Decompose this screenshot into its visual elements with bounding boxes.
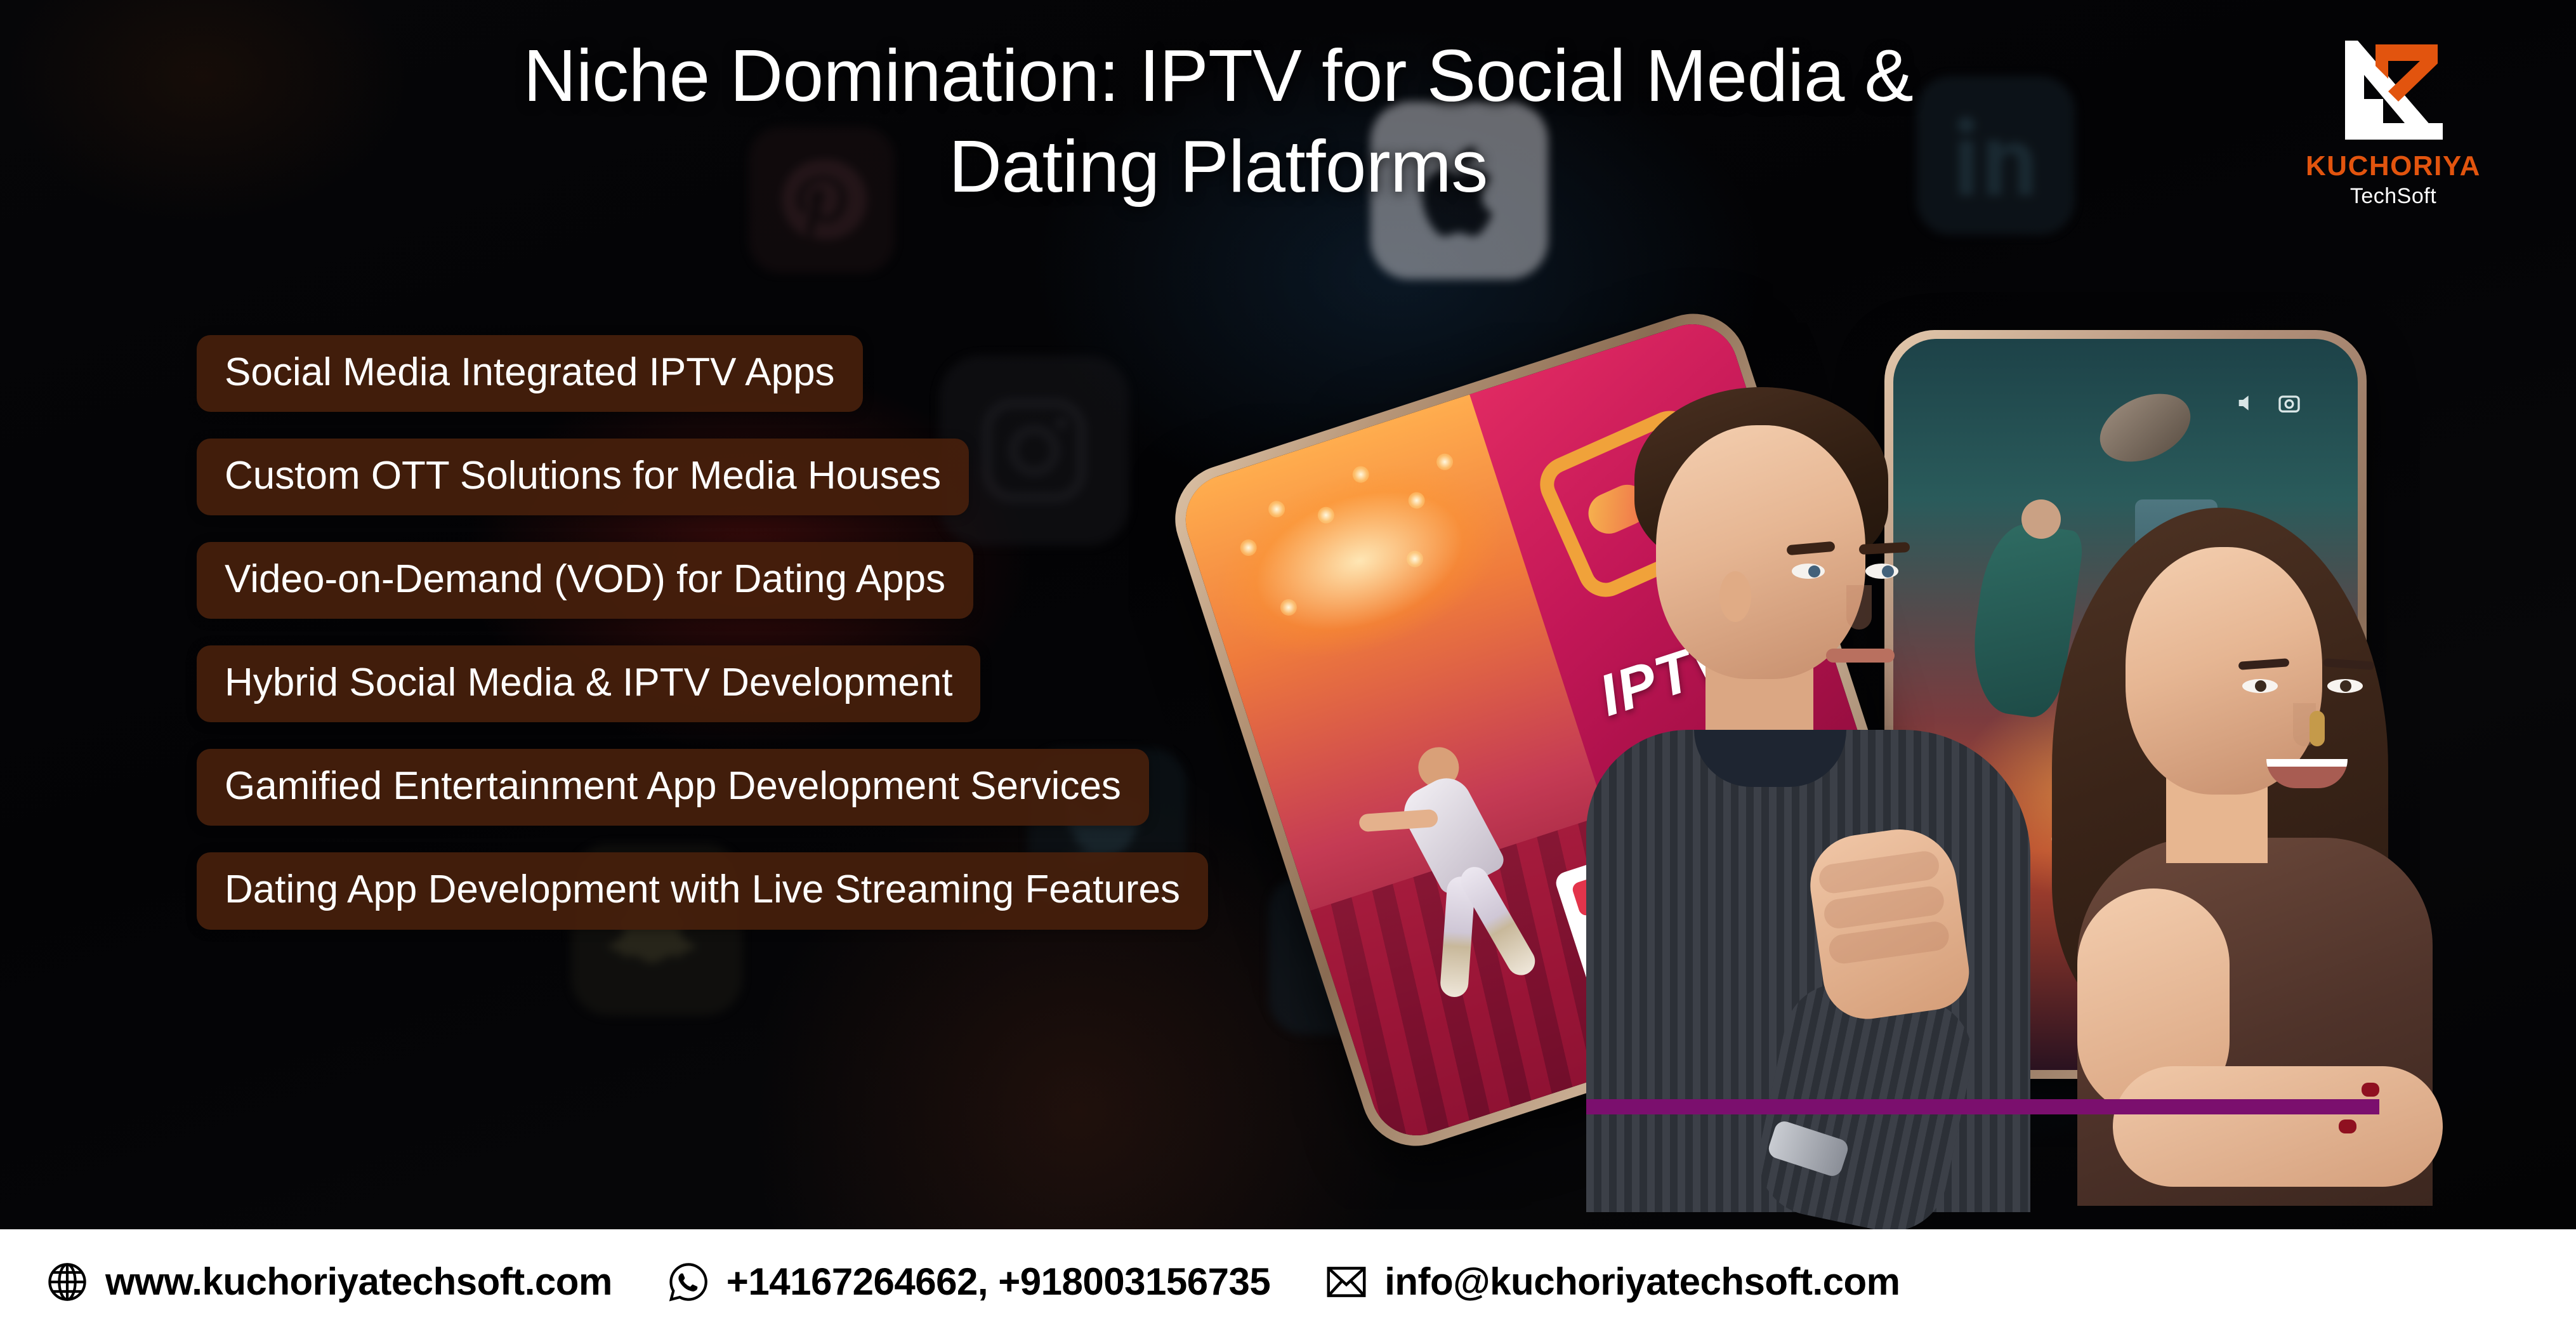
volume-icon [2235, 390, 2260, 416]
phone-numbers-text: +14167264662, +918003156735 [726, 1260, 1270, 1304]
email-address-text: info@kuchoriyatechsoft.com [1384, 1260, 1900, 1304]
logo-company-subtitle: TechSoft [2292, 184, 2495, 209]
camera-icon [2277, 390, 2302, 416]
purple-accent-bar [1586, 1099, 2379, 1114]
contact-phone[interactable]: +14167264662, +918003156735 [666, 1259, 1270, 1305]
service-pill[interactable]: Social Media Integrated IPTV Apps [197, 335, 863, 412]
pinterest-icon [749, 127, 895, 273]
service-pill[interactable]: Dating App Development with Live Streami… [197, 852, 1208, 929]
linkedin-icon [1916, 76, 2075, 235]
kuchoriya-k-monogram-icon [2330, 30, 2457, 145]
whatsapp-icon [666, 1259, 711, 1305]
contact-email[interactable]: info@kuchoriyatechsoft.com [1324, 1259, 1900, 1305]
service-pill-list: Social Media Integrated IPTV AppsCustom … [197, 335, 1208, 930]
marketing-banner: Niche Domination: IPTV for Social Media … [0, 0, 2576, 1334]
service-pill[interactable]: Video-on-Demand (VOD) for Dating Apps [197, 542, 973, 619]
website-url-text: www.kuchoriyatechsoft.com [105, 1260, 612, 1304]
hero-imagery: IPTV [1186, 298, 2576, 1187]
service-pill[interactable]: Hybrid Social Media & IPTV Development [197, 645, 980, 722]
footer-contact-bar: www.kuchoriyatechsoft.com +14167264662, … [0, 1229, 2576, 1334]
screen-status-icons [2235, 390, 2302, 416]
service-pill[interactable]: Gamified Entertainment App Development S… [197, 749, 1149, 826]
logo-company-name: KUCHORIYA [2292, 151, 2495, 182]
company-logo: KUCHORIYA TechSoft [2292, 30, 2495, 209]
envelope-icon [1324, 1259, 1369, 1305]
globe-icon [44, 1259, 90, 1305]
contact-website[interactable]: www.kuchoriyatechsoft.com [44, 1259, 612, 1305]
person-man-photo [1580, 387, 2049, 1193]
apple-icon [1370, 102, 1548, 279]
service-pill[interactable]: Custom OTT Solutions for Media Houses [197, 439, 969, 515]
